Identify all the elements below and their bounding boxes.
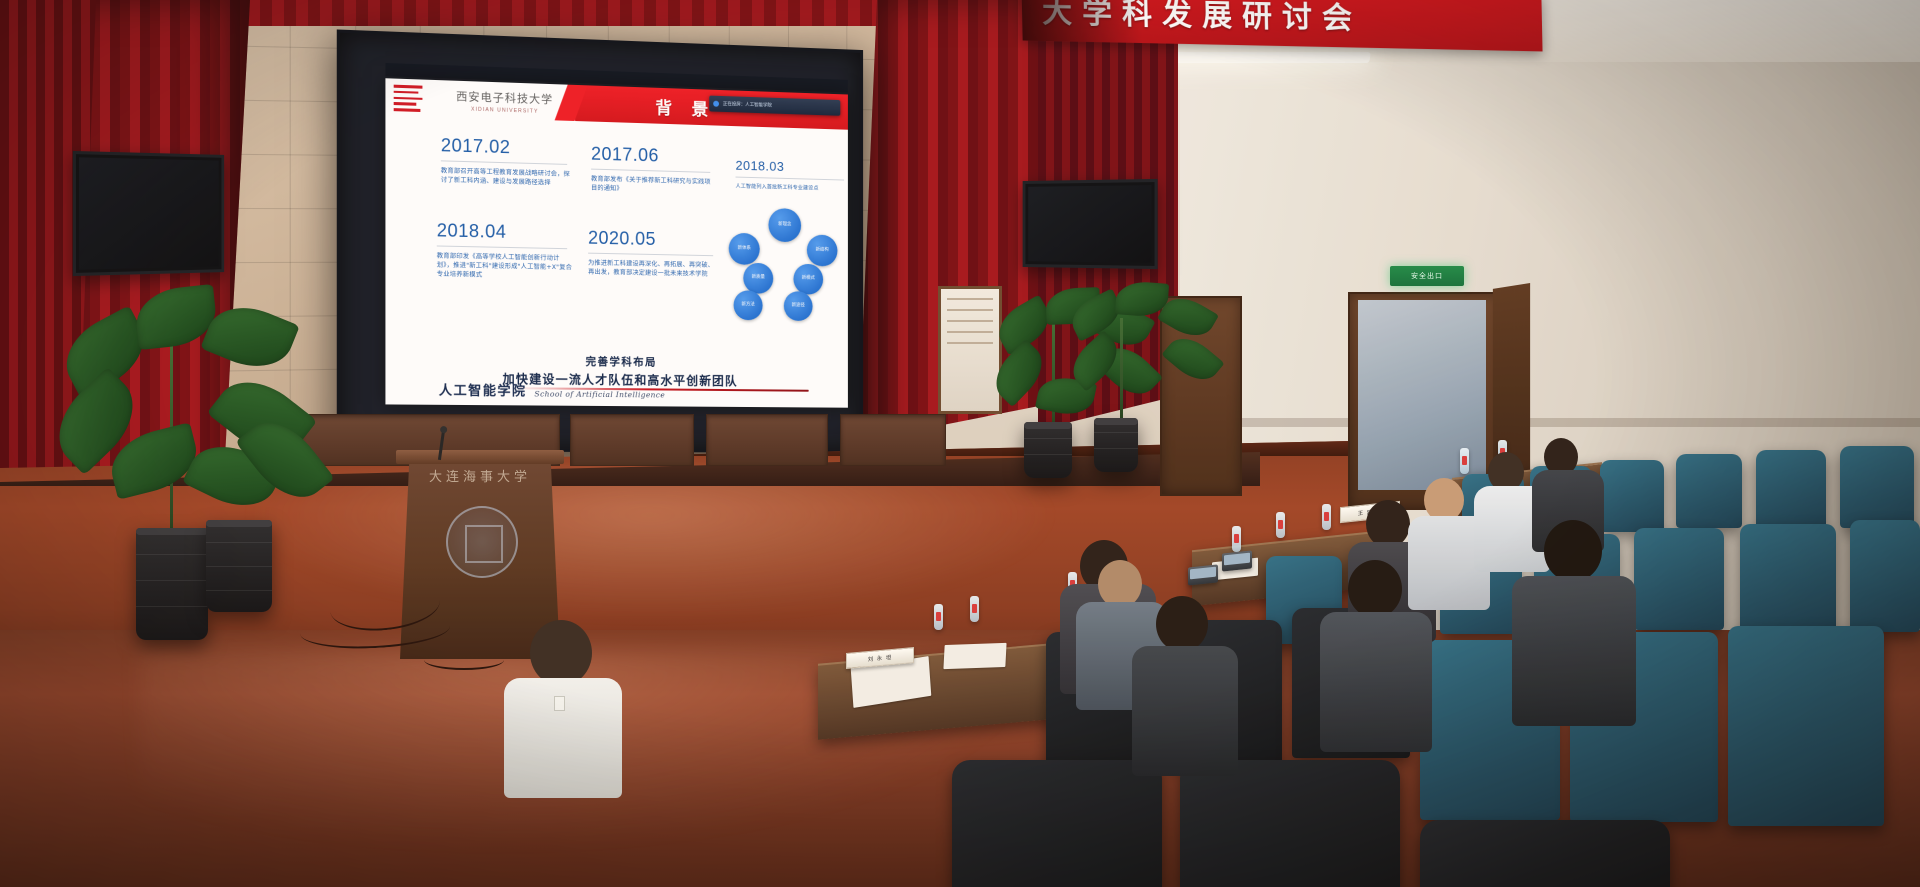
water-bottle — [1460, 448, 1469, 474]
auditorium-seat — [1850, 520, 1920, 632]
university-name-cn: 西安电子科技大学 — [439, 87, 570, 108]
water-bottle — [1276, 512, 1285, 538]
plant-pot — [206, 520, 272, 612]
cast-status-icon — [713, 101, 719, 107]
timeline-entry: 2020.05 为推进新工科建设再深化、再拓展、再突破、再出发，教育部决定建设一… — [588, 228, 718, 279]
concept-bubble: 新方法 — [734, 290, 763, 320]
divider — [588, 253, 713, 257]
auditorium-seat — [1840, 446, 1914, 528]
timeline-year: 2018.03 — [736, 158, 848, 176]
divider — [437, 245, 567, 249]
auditorium-seat — [1600, 460, 1664, 532]
plant-pot — [136, 528, 208, 640]
timeline-description: 为推进新工科建设再深化、再拓展、再突破、再出发，教育部决定建设一批未来技术学院 — [588, 259, 718, 279]
water-bottle — [934, 604, 943, 630]
wall-wood-panel — [570, 414, 694, 466]
lecture-hall-photo: 大学科发展研讨会 背 景 西安电子科技大学 XIDIAN UNIVERSITY — [0, 0, 1920, 887]
auditorium-seat — [1740, 524, 1836, 632]
divider — [441, 160, 567, 165]
floor-cable — [424, 650, 504, 670]
wall-display-right-screen — [1028, 185, 1151, 263]
auditorium-seat — [1676, 454, 1742, 528]
auditorium-seat — [1180, 760, 1400, 887]
exit-sign-label: 安全出口 — [1411, 271, 1443, 281]
concept-bubble-cluster: 新理念 新体系 新结构 新质量 新模式 新方法 新途径 — [724, 207, 845, 320]
auditorium-seat — [952, 760, 1162, 887]
banner-shadow — [1021, 0, 1142, 43]
slide: 背 景 西安电子科技大学 XIDIAN UNIVERSITY 正在投屏：人工智能… — [385, 78, 847, 407]
lectern-label: 大连海事大学 — [400, 466, 560, 485]
concept-bubble: 新结构 — [807, 235, 838, 267]
wall-wood-panel — [706, 414, 828, 466]
water-bottle — [1322, 504, 1331, 530]
timeline-entry: 2017.02 教育部召开高等工程教育发展战略研讨会，探讨了新工科内涵、建设与发… — [441, 135, 572, 188]
wall-display-right — [1023, 179, 1158, 269]
name-plate-label: 刘 永 坦 — [868, 653, 893, 663]
timeline-year: 2017.02 — [441, 135, 572, 160]
university-wordmark: 西安电子科技大学 XIDIAN UNIVERSITY — [439, 87, 570, 116]
divider — [736, 177, 845, 181]
slide-footer: 人工智能学院 School of Artificial Intelligence — [439, 379, 665, 400]
auditorium-seat — [1634, 528, 1724, 630]
plant-pot — [1094, 418, 1138, 472]
water-bottle — [1232, 526, 1241, 552]
auditorium-seat — [1728, 626, 1884, 826]
timeline-entry: 2018.04 教育部印发《高等学校人工智能创新行动计划》，推进"新工科"建设形… — [437, 220, 572, 281]
wall-display-left-screen — [79, 157, 219, 269]
school-name-cn: 人工智能学院 — [439, 379, 527, 399]
university-seal-icon — [446, 506, 518, 578]
timeline-entry: 2018.03 人工智能列入首批新工科专业建设点 — [736, 158, 848, 194]
wall-wood-panel — [840, 414, 946, 466]
concept-bubble: 新模式 — [793, 264, 823, 295]
university-logo-icon — [394, 85, 423, 114]
exit-sign: 安全出口 — [1390, 266, 1464, 286]
main-led-screen[interactable]: 背 景 西安电子科技大学 XIDIAN UNIVERSITY 正在投屏：人工智能… — [337, 29, 863, 452]
potted-plant-foliage — [1066, 280, 1226, 420]
auditorium-seat — [1420, 820, 1670, 887]
concept-bubble: 新理念 — [768, 208, 801, 242]
timeline-year: 2018.04 — [437, 220, 572, 244]
cast-status-label: 正在投屏：人工智能学院 — [723, 101, 772, 109]
right-wall-trim — [1180, 418, 1920, 427]
potted-plant-foliage — [40, 282, 340, 542]
school-name-en: School of Artificial Intelligence — [534, 389, 665, 400]
concept-bubble: 新途径 — [784, 291, 813, 321]
water-bottle — [970, 596, 979, 622]
lectern-top — [396, 450, 564, 464]
timeline-year: 2020.05 — [588, 228, 718, 252]
timeline-description: 教育部召开高等工程教育发展战略研讨会，探讨了新工科内涵、建设与发展路径选择 — [441, 166, 572, 188]
wall-display-left — [73, 151, 224, 276]
timeline-description: 教育部印发《高等学校人工智能创新行动计划》，推进"新工科"建设形成"人工智能+X… — [437, 252, 572, 282]
timeline-description: 人工智能列入首批新工科专业建设点 — [736, 182, 848, 193]
timeline-entry: 2017.06 教育部发布《关于推荐新工科研究与实践项目的通知》 — [591, 144, 715, 196]
timeline-description: 教育部发布《关于推荐新工科研究与实践项目的通知》 — [591, 175, 715, 196]
laptop[interactable] — [1222, 550, 1252, 571]
slide-title: 背 景 — [655, 94, 715, 121]
divider — [591, 169, 710, 173]
timeline-year: 2017.06 — [591, 144, 715, 169]
desk-document — [943, 643, 1006, 669]
plant-pot — [1024, 422, 1072, 478]
concept-bubble: 新体系 — [729, 233, 760, 265]
concept-bubble: 新质量 — [743, 263, 773, 294]
presentation-viewport[interactable]: 背 景 西安电子科技大学 XIDIAN UNIVERSITY 正在投屏：人工智能… — [385, 78, 847, 407]
laptop[interactable] — [1188, 564, 1218, 585]
auditorium-seat — [1756, 450, 1826, 528]
